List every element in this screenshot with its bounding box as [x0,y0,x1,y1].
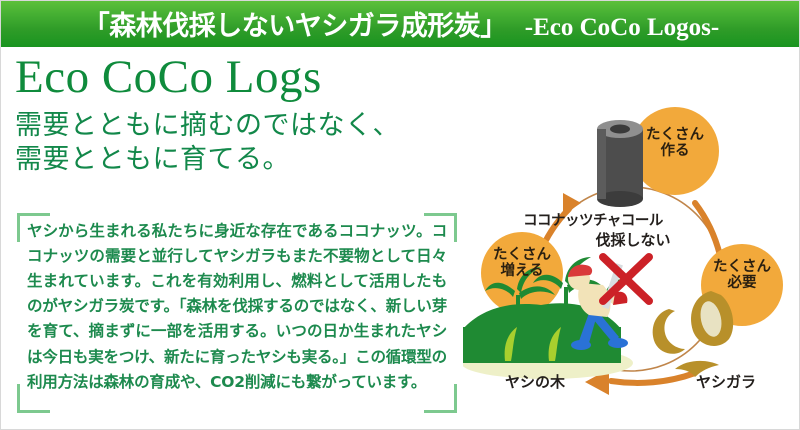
header-english-title: -Eco CoCo Logos- [525,14,719,42]
label-coconut-husk: ヤシガラ [671,371,781,392]
label-palm-tree: ヤシの木 [475,371,595,392]
badge-grow-lots-line-2: 増える [500,263,543,279]
description-paragraph: ヤシから生まれる私たちに身近な存在であるココナッツ。ココナッツの需要と並行してヤ… [27,219,447,395]
tagline-line-2: 需要とともに育てる。 [15,143,467,178]
badge-grow-lots-line-1: たくさん [493,247,551,263]
left-column: Eco CoCo Logs 需要とともに摘むのではなく、 需要とともに育てる。 [15,53,467,178]
description-block: ヤシから生まれる私たちに身近な存在であるココナッツ。ココナッツの需要と並行してヤ… [17,213,457,413]
infographic-page: 「森林伐採しないヤシガラ成形炭」 -Eco CoCo Logos- Eco Co… [0,0,800,430]
cycle-diagram: ココナッツチャコール ヤシの木 ヤシガラ 伐採しない たくさん 作る たくさん … [463,51,799,429]
badge-grow-lots-text: たくさん 増える [479,247,565,279]
tagline: 需要とともに摘むのではなく、 需要とともに育てる。 [15,109,467,178]
label-coconut-charcoal: ココナッツチャコール [493,209,693,230]
header-japanese-title: 「森林伐採しないヤシガラ成形炭」 [83,4,507,43]
brand-title: Eco CoCo Logs [15,53,467,103]
header-inner: 「森林伐採しないヤシガラ成形炭」 -Eco CoCo Logos- [83,4,719,43]
badge-make-lots-line-1: たくさん [646,127,704,143]
badge-make-lots-text: たくさん 作る [629,127,721,159]
label-no-logging: 伐採しない [573,229,693,250]
badge-need-lots-line-2: 必要 [728,275,757,291]
badge-make-lots-line-2: 作る [661,143,690,159]
tagline-line-1: 需要とともに摘むのではなく、 [15,109,467,144]
header-banner: 「森林伐採しないヤシガラ成形炭」 -Eco CoCo Logos- [1,1,800,47]
badge-need-lots-line-1: たくさん [713,259,771,275]
badge-need-lots-text: たくさん 必要 [701,259,783,291]
